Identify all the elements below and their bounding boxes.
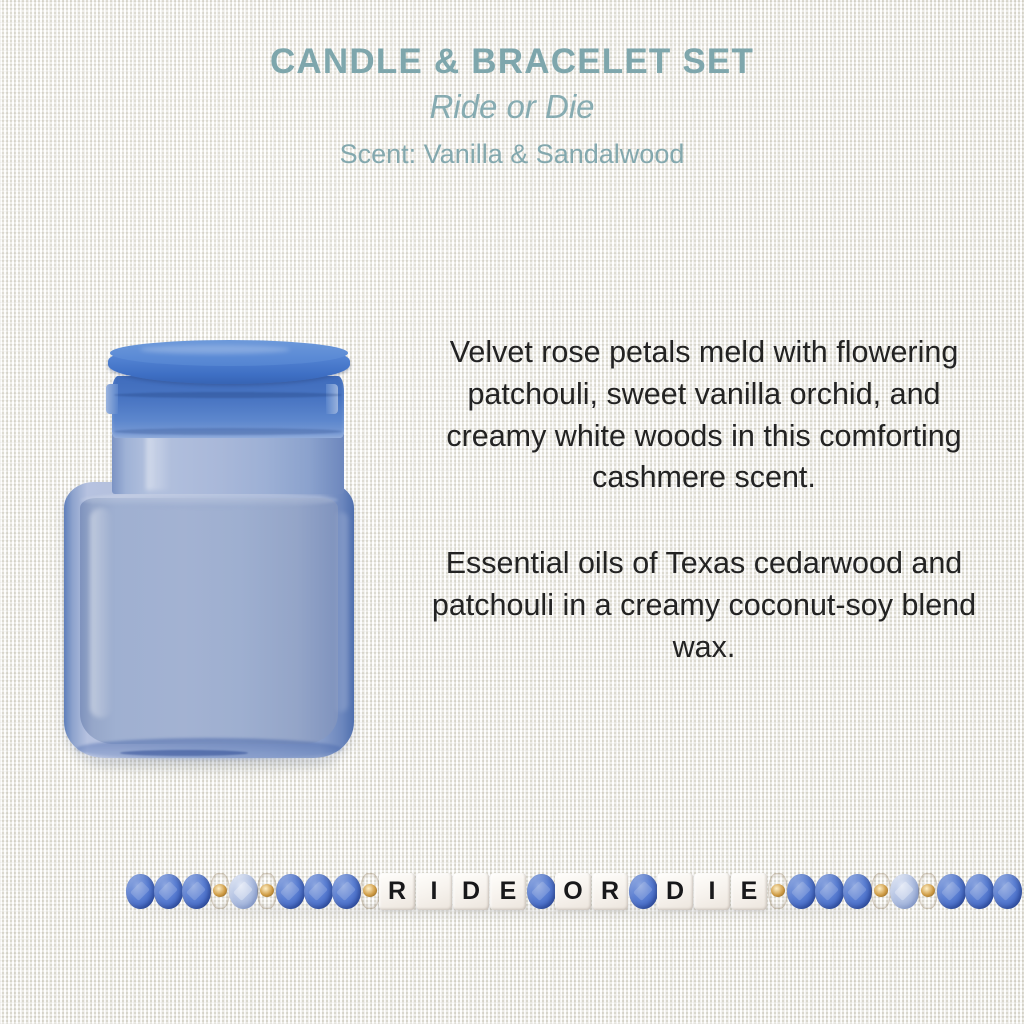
bracelet-letter-bead: I bbox=[416, 873, 452, 910]
bracelet-blue-bead bbox=[126, 874, 155, 909]
bracelet-letter-bead: D bbox=[453, 873, 489, 910]
bracelet-gold-spacer-bead bbox=[210, 873, 230, 909]
scent-label: Scent: Vanilla & Sandalwood bbox=[0, 137, 1024, 172]
jar-base-rim bbox=[76, 738, 342, 760]
bracelet-letter-bead: R bbox=[592, 873, 628, 910]
bracelet-pale-blue-bead bbox=[890, 874, 919, 909]
jar-neck-ridge-lower bbox=[114, 428, 342, 435]
bracelet-blue-bead bbox=[304, 874, 333, 909]
bracelet-blue-bead bbox=[154, 874, 183, 909]
bracelet-blue-bead bbox=[937, 874, 966, 909]
bracelet-blue-bead bbox=[332, 874, 361, 909]
jar-highlight-right bbox=[334, 512, 348, 712]
bracelet-blue-bead bbox=[276, 874, 305, 909]
bracelet-letter-bead: E bbox=[731, 873, 767, 910]
bracelet-blue-bead bbox=[787, 874, 816, 909]
page-title: CANDLE & BRACELET SET bbox=[0, 44, 1024, 79]
header-block: CANDLE & BRACELET SET Ride or Die Scent:… bbox=[0, 44, 1024, 172]
description-paragraph-2: Essential oils of Texas cedarwood and pa… bbox=[424, 543, 984, 668]
product-name-subtitle: Ride or Die bbox=[0, 85, 1024, 130]
bracelet-gold-spacer-bead bbox=[918, 873, 938, 909]
bracelet-blue-bead bbox=[629, 874, 658, 909]
jar-wax-surface bbox=[80, 492, 338, 508]
jar-lid-highlight bbox=[140, 345, 290, 354]
bracelet-blue-bead bbox=[182, 874, 211, 909]
bracelet-blue-bead bbox=[843, 874, 872, 909]
bracelet-letter-bead: O bbox=[555, 873, 591, 910]
bracelet-letter-bead: D bbox=[657, 873, 693, 910]
bracelet-blue-bead bbox=[527, 874, 556, 909]
bracelet-blue-bead bbox=[993, 874, 1022, 909]
bracelet-letter-bead: E bbox=[490, 873, 526, 910]
jar-base-shine bbox=[120, 750, 248, 756]
bracelet-blue-bead bbox=[815, 874, 844, 909]
bracelet-gold-spacer-bead bbox=[871, 873, 891, 909]
candle-jar-product-photo bbox=[62, 340, 382, 770]
beaded-bracelet-product-photo: RIDEORDIE bbox=[126, 869, 908, 913]
jar-highlight-left bbox=[90, 508, 112, 718]
bracelet-letter-bead: R bbox=[379, 873, 415, 910]
jar-neck-tab-right bbox=[326, 384, 338, 414]
bracelet-gold-spacer-bead bbox=[360, 873, 380, 909]
bracelet-letter-bead: I bbox=[694, 873, 730, 910]
bracelet-gold-spacer-bead bbox=[768, 873, 788, 909]
bracelet-gold-spacer-bead bbox=[257, 873, 277, 909]
bracelet-pale-blue-bead bbox=[229, 874, 258, 909]
bracelet-blue-bead bbox=[965, 874, 994, 909]
jar-neck-tab-left bbox=[106, 384, 118, 414]
jar-shoulder-highlight bbox=[146, 436, 170, 490]
description-paragraph-1: Velvet rose petals meld with flowering p… bbox=[424, 332, 984, 499]
jar-neck-ridge-upper bbox=[114, 392, 342, 398]
description-block: Velvet rose petals meld with flowering p… bbox=[424, 332, 984, 668]
product-listing-image: CANDLE & BRACELET SET Ride or Die Scent:… bbox=[0, 0, 1024, 1024]
jar-wax-fill bbox=[80, 498, 338, 744]
